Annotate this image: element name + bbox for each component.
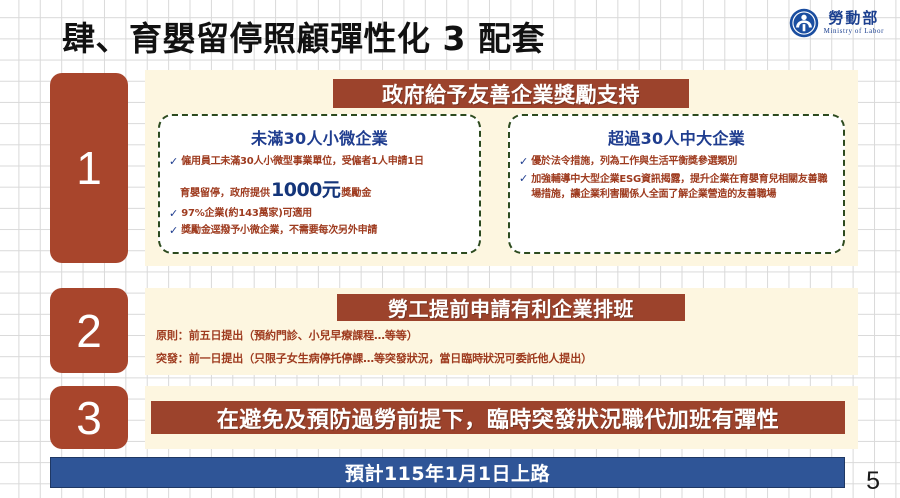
bullet-text: 加強輔導中大型企業ESG資訊揭露，提升企業在育嬰育兒相關友善職場措施，讓企業利害… — [531, 172, 836, 202]
check-icon: ✓ — [519, 155, 528, 169]
effective-date-banner: 預計115年1月1日上路 — [50, 457, 845, 488]
list-item: ✓ 加強輔導中大型企業ESG資訊揭露，提升企業在育嬰育兒相關友善職場措施，讓企業… — [519, 172, 836, 202]
check-icon: ✓ — [519, 172, 528, 186]
section-2-title-bar: 勞工提前申請有利企業排班 — [337, 294, 685, 321]
bullet-text: 獎勵金逕撥予小微企業，不需要每次另外申請 — [181, 224, 377, 238]
ministry-name-cn: 勞動部 — [828, 11, 879, 26]
list-item: ✓ 僱用員工未滿30人小微型事業單位，受僱者1人申請1日 — [169, 155, 472, 169]
check-icon: ✓ — [169, 224, 178, 238]
bullet-text: 97%企業(約143萬家)可適用 — [181, 207, 312, 221]
bullet-text: 僱用員工未滿30人小微型事業單位，受僱者1人申請1日 — [181, 155, 424, 169]
small-enterprise-heading: 未滿30人小微企業 — [160, 125, 479, 149]
section-1-number-badge: 1 — [50, 73, 128, 263]
section-2-line-1: 原則：前五日提出（預約門診、小兒早療課程…等等） — [156, 327, 418, 343]
ministry-logo: 勞動部 Ministry of Labor — [789, 8, 884, 38]
small-enterprise-bullets: ✓ 僱用員工未滿30人小微型事業單位，受僱者1人申請1日 — [160, 155, 479, 169]
check-icon: ✓ — [169, 155, 178, 169]
page-number: 5 — [866, 467, 880, 496]
section-3-number-badge: 3 — [50, 386, 128, 449]
slide-header: 肆、育嬰留停照顧彈性化 3 配套 勞動部 Ministry of Labor — [0, 0, 900, 62]
list-item: ✓ 獎勵金逕撥予小微企業，不需要每次另外申請 — [169, 224, 472, 238]
list-item: ✓ 97%企業(約143萬家)可適用 — [169, 207, 472, 221]
section-2-line-2: 突發：前一日提出（只限子女生病停托停課…等突發狀況，當日臨時狀況可委託他人提出） — [156, 350, 592, 366]
small-enterprise-card: 未滿30人小微企業 ✓ 僱用員工未滿30人小微型事業單位，受僱者1人申請1日 育… — [158, 114, 481, 254]
section-1-title-bar: 政府給予友善企業獎勵支持 — [333, 79, 689, 108]
large-enterprise-bullets: ✓ 優於法令措施，列為工作與生活平衡獎參選類別 ✓ 加強輔導中大型企業ESG資訊… — [510, 155, 843, 202]
ministry-name-en: Ministry of Labor — [824, 28, 884, 35]
section-3-title-bar: 在避免及預防過勞前提下，臨時突發狀況職代加班有彈性 — [151, 401, 845, 434]
section-2-number-badge: 2 — [50, 288, 128, 373]
subsidy-suffix: 獎勵金 — [341, 184, 371, 199]
list-item: ✓ 優於法令措施，列為工作與生活平衡獎參選類別 — [519, 155, 836, 169]
ministry-logo-text: 勞動部 Ministry of Labor — [824, 11, 884, 35]
ministry-of-labor-emblem-icon — [789, 8, 819, 38]
slide-canvas: 肆、育嬰留停照顧彈性化 3 配套 勞動部 Ministry of Labor 1… — [0, 0, 900, 498]
subsidy-emphasis-line: 育嬰留停，政府提供 1000元 獎勵金 — [180, 175, 479, 202]
large-enterprise-card: 超過30人中大企業 ✓ 優於法令措施，列為工作與生活平衡獎參選類別 ✓ 加強輔導… — [508, 114, 845, 254]
check-icon: ✓ — [169, 207, 178, 221]
subsidy-amount: 1000元 — [271, 175, 340, 202]
large-enterprise-heading: 超過30人中大企業 — [510, 125, 843, 149]
bullet-text: 優於法令措施，列為工作與生活平衡獎參選類別 — [531, 155, 737, 169]
page-title: 肆、育嬰留停照顧彈性化 3 配套 — [62, 12, 545, 60]
small-enterprise-bullets-after: ✓ 97%企業(約143萬家)可適用 ✓ 獎勵金逕撥予小微企業，不需要每次另外申… — [160, 207, 479, 238]
subsidy-prefix: 育嬰留停，政府提供 — [180, 184, 270, 199]
